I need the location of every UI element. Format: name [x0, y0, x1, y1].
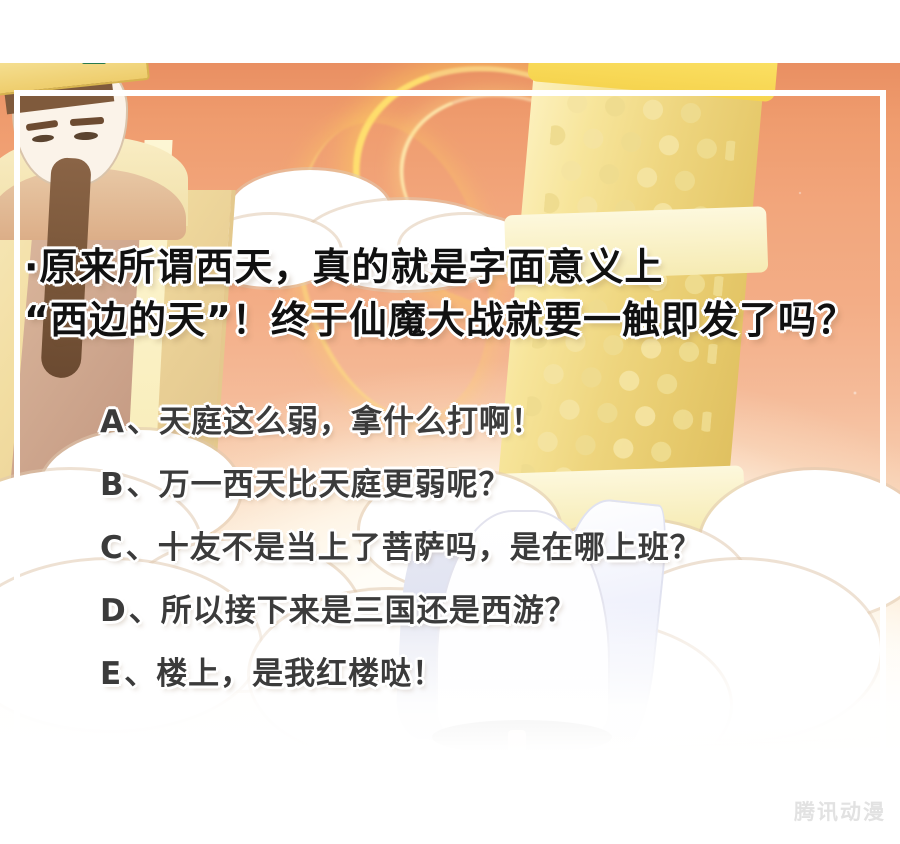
- option-row-c[interactable]: C、十友不是当上了菩萨吗，是在哪上班？: [100, 528, 702, 568]
- option-separator-a: 、: [127, 404, 159, 440]
- headline-line-2: “西边的天”！终于仙魔大战就要一触即发了吗？: [24, 294, 884, 346]
- option-row-e[interactable]: E、楼上，是我红楼哒！: [100, 654, 444, 694]
- option-separator-b: 、: [127, 467, 159, 503]
- option-key-c: C: [100, 528, 124, 568]
- comic-panel-page: ·原来所谓西天，真的就是字面意义上 “西边的天”！终于仙魔大战就要一触即发了吗？…: [0, 0, 900, 844]
- option-key-a: A: [100, 402, 125, 442]
- option-key-d: D: [100, 591, 127, 631]
- option-text-e: 楼上，是我红楼哒！: [156, 656, 444, 692]
- option-key-b: B: [100, 465, 125, 505]
- option-row-d[interactable]: D、所以接下来是三国还是西游？: [100, 591, 577, 631]
- option-text-d: 所以接下来是三国还是西游？: [161, 593, 577, 629]
- headline-line-1: ·原来所谓西天，真的就是字面意义上: [24, 241, 884, 293]
- tencent-comics-watermark: 腾讯动漫: [794, 796, 886, 826]
- text-layer: ·原来所谓西天，真的就是字面意义上 “西边的天”！终于仙魔大战就要一触即发了吗？…: [0, 0, 900, 790]
- option-text-a: 天庭这么弱，拿什么打啊！: [159, 404, 543, 440]
- option-separator-d: 、: [129, 593, 161, 629]
- option-separator-e: 、: [124, 656, 156, 692]
- option-separator-c: 、: [126, 530, 158, 566]
- option-row-a[interactable]: A、天庭这么弱，拿什么打啊！: [100, 402, 543, 442]
- option-text-c: 十友不是当上了菩萨吗，是在哪上班？: [158, 530, 702, 566]
- option-text-b: 万一西天比天庭更弱呢？: [159, 467, 511, 503]
- option-row-b[interactable]: B、万一西天比天庭更弱呢？: [100, 465, 511, 505]
- option-key-e: E: [100, 654, 122, 694]
